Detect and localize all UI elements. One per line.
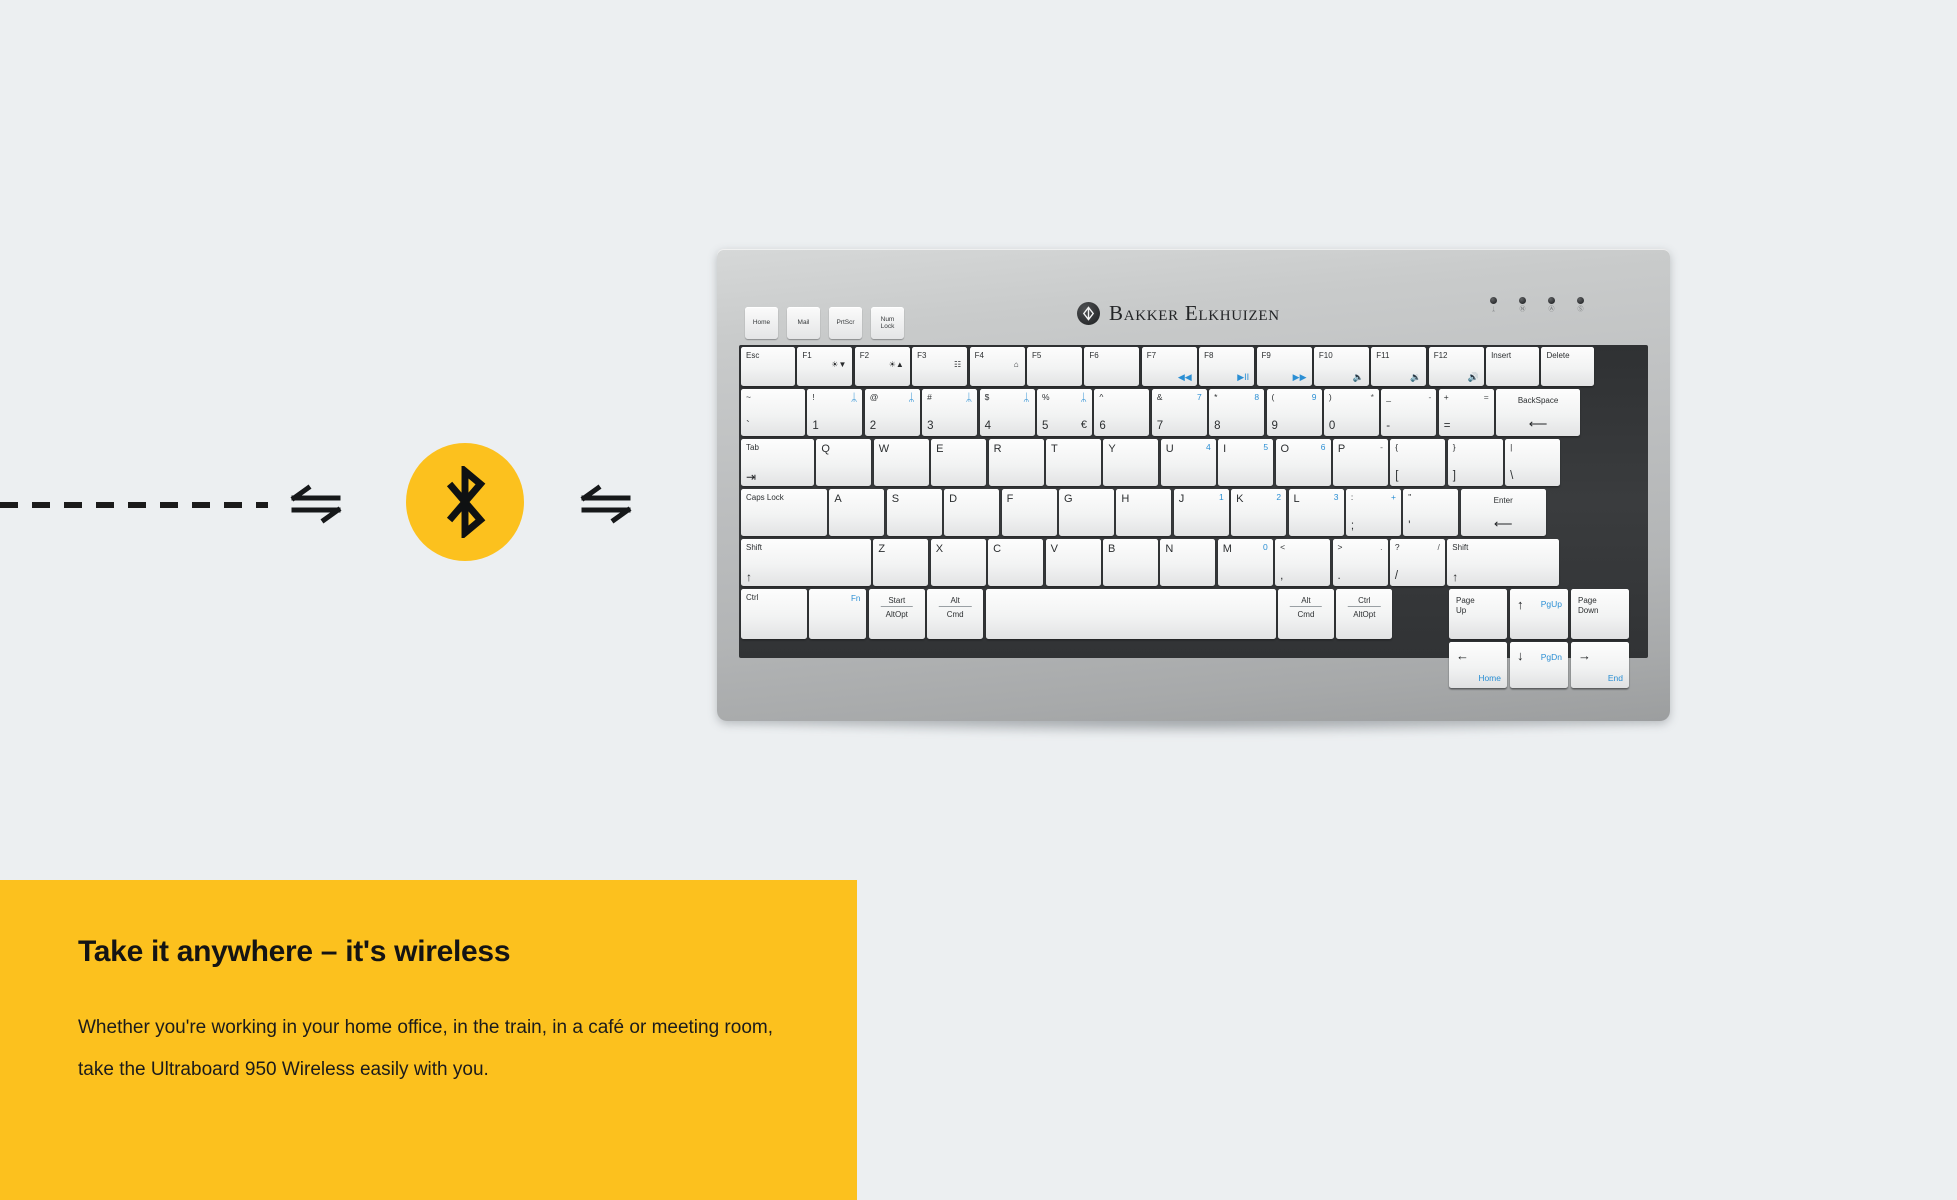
key-equals[interactable]: +== [1439, 389, 1494, 436]
led-indicator-group: ᛣⓃⒶⓈ [1490, 297, 1584, 313]
key-k[interactable]: K2 [1231, 489, 1286, 536]
key-minus[interactable]: _-- [1381, 389, 1436, 436]
key-backslash[interactable]: |\ [1505, 439, 1560, 486]
fn-icon-home: ⌂ [1014, 361, 1019, 369]
key-enter[interactable]: Enter⟵ [1461, 489, 1546, 536]
promo-body-text: Whether you're working in your home offi… [78, 1007, 778, 1091]
fn-icon-◀◀: ◀◀ [1178, 373, 1192, 382]
fn-icon-▶▶: ▶▶ [1293, 373, 1307, 382]
shift-up-arrow-icon: ↑ [746, 571, 752, 583]
arrow-down-glyph-icon: ↓ [1517, 649, 1524, 662]
qwerty-key-row: Tab⇥QWERTYU4I5O6P-{[}]|\ [741, 439, 1560, 486]
key-three[interactable]: #3ᛦ [922, 389, 977, 436]
key-z[interactable]: Z [873, 539, 928, 586]
number-key-row: ~`!1ᛦ@2ᛦ#3ᛦ$4ᛦ%5ᛦ€^6&77*88(99)0*_--+==Ba… [741, 389, 1580, 436]
key-f4[interactable]: F4⌂ [970, 347, 1025, 386]
key-g[interactable]: G [1059, 489, 1114, 536]
key-shift-right[interactable]: Shift↑ [1447, 539, 1559, 586]
key-arrow-left[interactable]: ←Home [1449, 642, 1507, 688]
key-m[interactable]: M0 [1218, 539, 1273, 586]
numlock-led-dot [1519, 297, 1526, 304]
bluetooth-badge [406, 443, 524, 561]
scrolllock-led: Ⓢ [1577, 297, 1584, 313]
hotkey-mail[interactable]: Mail [787, 307, 820, 339]
key-tab[interactable]: Tab⇥ [741, 439, 814, 486]
arrow-right-label: End [1608, 674, 1623, 683]
key-comma[interactable]: <, [1275, 539, 1330, 586]
promo-heading: Take it anywhere – it's wireless [78, 935, 510, 969]
key-five[interactable]: %5ᛦ€ [1037, 389, 1092, 436]
scrolllock-led-label: Ⓢ [1577, 307, 1583, 313]
key-f11[interactable]: F11🔉 [1371, 347, 1426, 386]
bluetooth-led-label: ᛣ [1492, 307, 1496, 313]
capslock-led-dot [1548, 297, 1555, 304]
key-caps-lock[interactable]: Caps Lock [741, 489, 827, 536]
key-four[interactable]: $4ᛦ [980, 389, 1035, 436]
page-root: HomeMailPrtScrNumLock Bakker Elkhuizen ᛣ… [0, 0, 1957, 1200]
key-f7[interactable]: F7◀◀ [1142, 347, 1197, 386]
key-d[interactable]: D [944, 489, 999, 536]
numlock-led-label: Ⓝ [1519, 307, 1525, 313]
key-seven[interactable]: &77 [1152, 389, 1207, 436]
tab-arrows-icon: ⇥ [746, 471, 756, 483]
fn-icon-mission-control: ☷ [954, 361, 961, 369]
capslock-led-label: Ⓐ [1548, 307, 1554, 313]
key-j[interactable]: J1 [1174, 489, 1229, 536]
key-delete[interactable]: Delete [1541, 347, 1594, 386]
key-one[interactable]: !1ᛦ [807, 389, 862, 436]
key-a[interactable]: A [829, 489, 884, 536]
key-zero[interactable]: )0* [1324, 389, 1379, 436]
key-start[interactable]: StartAltOpt [869, 589, 925, 639]
capslock-led: Ⓐ [1548, 297, 1555, 313]
keyboard-chassis: HomeMailPrtScrNumLock Bakker Elkhuizen ᛣ… [717, 249, 1670, 721]
key-x[interactable]: X [931, 539, 986, 586]
key-y[interactable]: Y [1103, 439, 1158, 486]
fn-icon-mute: 🔈 [1353, 373, 1364, 382]
key-backspace[interactable]: BackSpace⟵ [1496, 389, 1580, 436]
hotkey-row: HomeMailPrtScrNumLock [745, 307, 904, 339]
page-down-label: PageDown [1578, 596, 1598, 616]
fn-icon-volume-up: 🔊 [1467, 373, 1478, 382]
arrow-left-glyph-icon: ← [1456, 649, 1469, 662]
key-ctrl-left[interactable]: Ctrl [741, 589, 807, 639]
bluetooth-led-dot [1490, 297, 1497, 304]
key-alt-left[interactable]: AltCmd [927, 589, 983, 639]
bakker-elkhuizen-mark-icon [1077, 302, 1100, 325]
fn-icon-brightness-down: ☀▼ [831, 361, 846, 369]
key-f6[interactable]: F6 [1084, 347, 1139, 386]
fn-icon-brightness-up: ☀▲ [889, 361, 904, 369]
promo-panel: Take it anywhere – it's wireless Whether… [0, 880, 857, 1200]
key-six[interactable]: ^6 [1094, 389, 1149, 436]
key-ctrl-right[interactable]: CtrlAltOpt [1336, 589, 1392, 639]
key-h[interactable]: H [1116, 489, 1171, 536]
hotkey-prtscr[interactable]: PrtScr [829, 307, 862, 339]
key-arrow-up[interactable]: ↑PgUp [1510, 589, 1568, 639]
key-n[interactable]: N [1160, 539, 1215, 586]
brand-name: Bakker Elkhuizen [1109, 301, 1280, 326]
key-s[interactable]: S [887, 489, 942, 536]
key-f5[interactable]: F5 [1027, 347, 1082, 386]
brand-logo-lockup: Bakker Elkhuizen [1077, 301, 1280, 326]
key-e[interactable]: E [931, 439, 986, 486]
scrolllock-led-dot [1577, 297, 1584, 304]
bluetooth-pair-icon: ᛦ [1023, 393, 1030, 404]
bluetooth-pair-icon: ᛦ [851, 393, 858, 404]
numlock-led: Ⓝ [1519, 297, 1526, 313]
key-nine[interactable]: (99 [1267, 389, 1322, 436]
key-b[interactable]: B [1103, 539, 1158, 586]
key-semicolon[interactable]: :;+ [1346, 489, 1401, 536]
key-shift-left[interactable]: Shift↑ [741, 539, 871, 586]
key-f3[interactable]: F3☷ [912, 347, 967, 386]
bottom-key-row: CtrlFnStartAltOptAltCmdAltCmdCtrlAltOpt [741, 589, 1392, 639]
key-backtick[interactable]: ~` [741, 389, 805, 436]
arrow-up-glyph-icon: ↑ [1517, 598, 1524, 611]
key-o[interactable]: O6 [1276, 439, 1331, 486]
shift-up-arrow-icon: ↑ [1452, 571, 1458, 583]
key-period[interactable]: >.. [1333, 539, 1388, 586]
key-space[interactable] [986, 589, 1276, 639]
key-insert[interactable]: Insert [1486, 347, 1539, 386]
key-arrow-down[interactable]: ↓PgDn [1510, 642, 1568, 688]
key-eight[interactable]: *88 [1209, 389, 1264, 436]
key-page-down[interactable]: PageDown [1571, 589, 1629, 639]
bluetooth-icon [438, 466, 492, 538]
key-q[interactable]: Q [816, 439, 871, 486]
arrow-down-label: PgDn [1541, 653, 1562, 662]
bluetooth-pair-icon: ᛦ [966, 393, 973, 404]
key-alt-right[interactable]: AltCmd [1278, 589, 1334, 639]
key-bracket-left[interactable]: {[ [1390, 439, 1445, 486]
key-f9[interactable]: F9▶▶ [1257, 347, 1312, 386]
bluetooth-pair-icon: ᛦ [908, 393, 915, 404]
hotkey-num-lock[interactable]: NumLock [871, 307, 904, 339]
key-u[interactable]: U4 [1161, 439, 1216, 486]
key-l[interactable]: L3 [1289, 489, 1344, 536]
exchange-arrows-icon-left [288, 482, 344, 526]
key-quote[interactable]: "' [1403, 489, 1458, 536]
key-r[interactable]: R [989, 439, 1044, 486]
shift-key-row: Shift↑ZXCVBNM0<,>..?//Shift↑ [741, 539, 1559, 586]
key-i[interactable]: I5 [1218, 439, 1273, 486]
fn-icon-volume-down: 🔉 [1410, 373, 1421, 382]
key-v[interactable]: V [1046, 539, 1101, 586]
hotkey-home[interactable]: Home [745, 307, 778, 339]
page-up-label: PageUp [1456, 596, 1475, 616]
arrow-up-label: PgUp [1541, 600, 1562, 609]
key-f8[interactable]: F8▶II [1199, 347, 1254, 386]
key-bracket-right[interactable]: }] [1448, 439, 1503, 486]
key-page-up[interactable]: PageUp [1449, 589, 1507, 639]
key-f1[interactable]: F1☀▼ [797, 347, 852, 386]
key-f12[interactable]: F12🔊 [1429, 347, 1484, 386]
bluetooth-led: ᛣ [1490, 297, 1497, 313]
keyboard-image: HomeMailPrtScrNumLock Bakker Elkhuizen ᛣ… [717, 249, 1670, 749]
key-f10[interactable]: F10🔈 [1314, 347, 1369, 386]
arrow-right-glyph-icon: → [1578, 649, 1591, 662]
key-fn[interactable]: Fn [809, 589, 866, 639]
bluetooth-pair-icon: ᛦ [1080, 393, 1087, 404]
key-two[interactable]: @2ᛦ [865, 389, 920, 436]
key-esc[interactable]: Esc [741, 347, 795, 386]
arrow-left-label: Home [1478, 674, 1501, 683]
key-t[interactable]: T [1046, 439, 1101, 486]
function-key-row: EscF1☀▼F2☀▲F3☷F4⌂F5F6F7◀◀F8▶IIF9▶▶F10🔈F1… [741, 347, 1594, 386]
dashed-connection-line [0, 502, 268, 508]
key-c[interactable]: C [988, 539, 1043, 586]
home-key-row: Caps LockASDFGHJ1K2L3:;+"'Enter⟵ [741, 489, 1546, 536]
exchange-arrows-icon-right [578, 482, 634, 526]
key-slash[interactable]: ?// [1390, 539, 1445, 586]
key-f[interactable]: F [1002, 489, 1057, 536]
key-arrow-right[interactable]: →End [1571, 642, 1629, 688]
key-w[interactable]: W [874, 439, 929, 486]
key-p[interactable]: P- [1333, 439, 1388, 486]
fn-icon-▶II: ▶II [1237, 373, 1249, 382]
key-f2[interactable]: F2☀▲ [855, 347, 910, 386]
